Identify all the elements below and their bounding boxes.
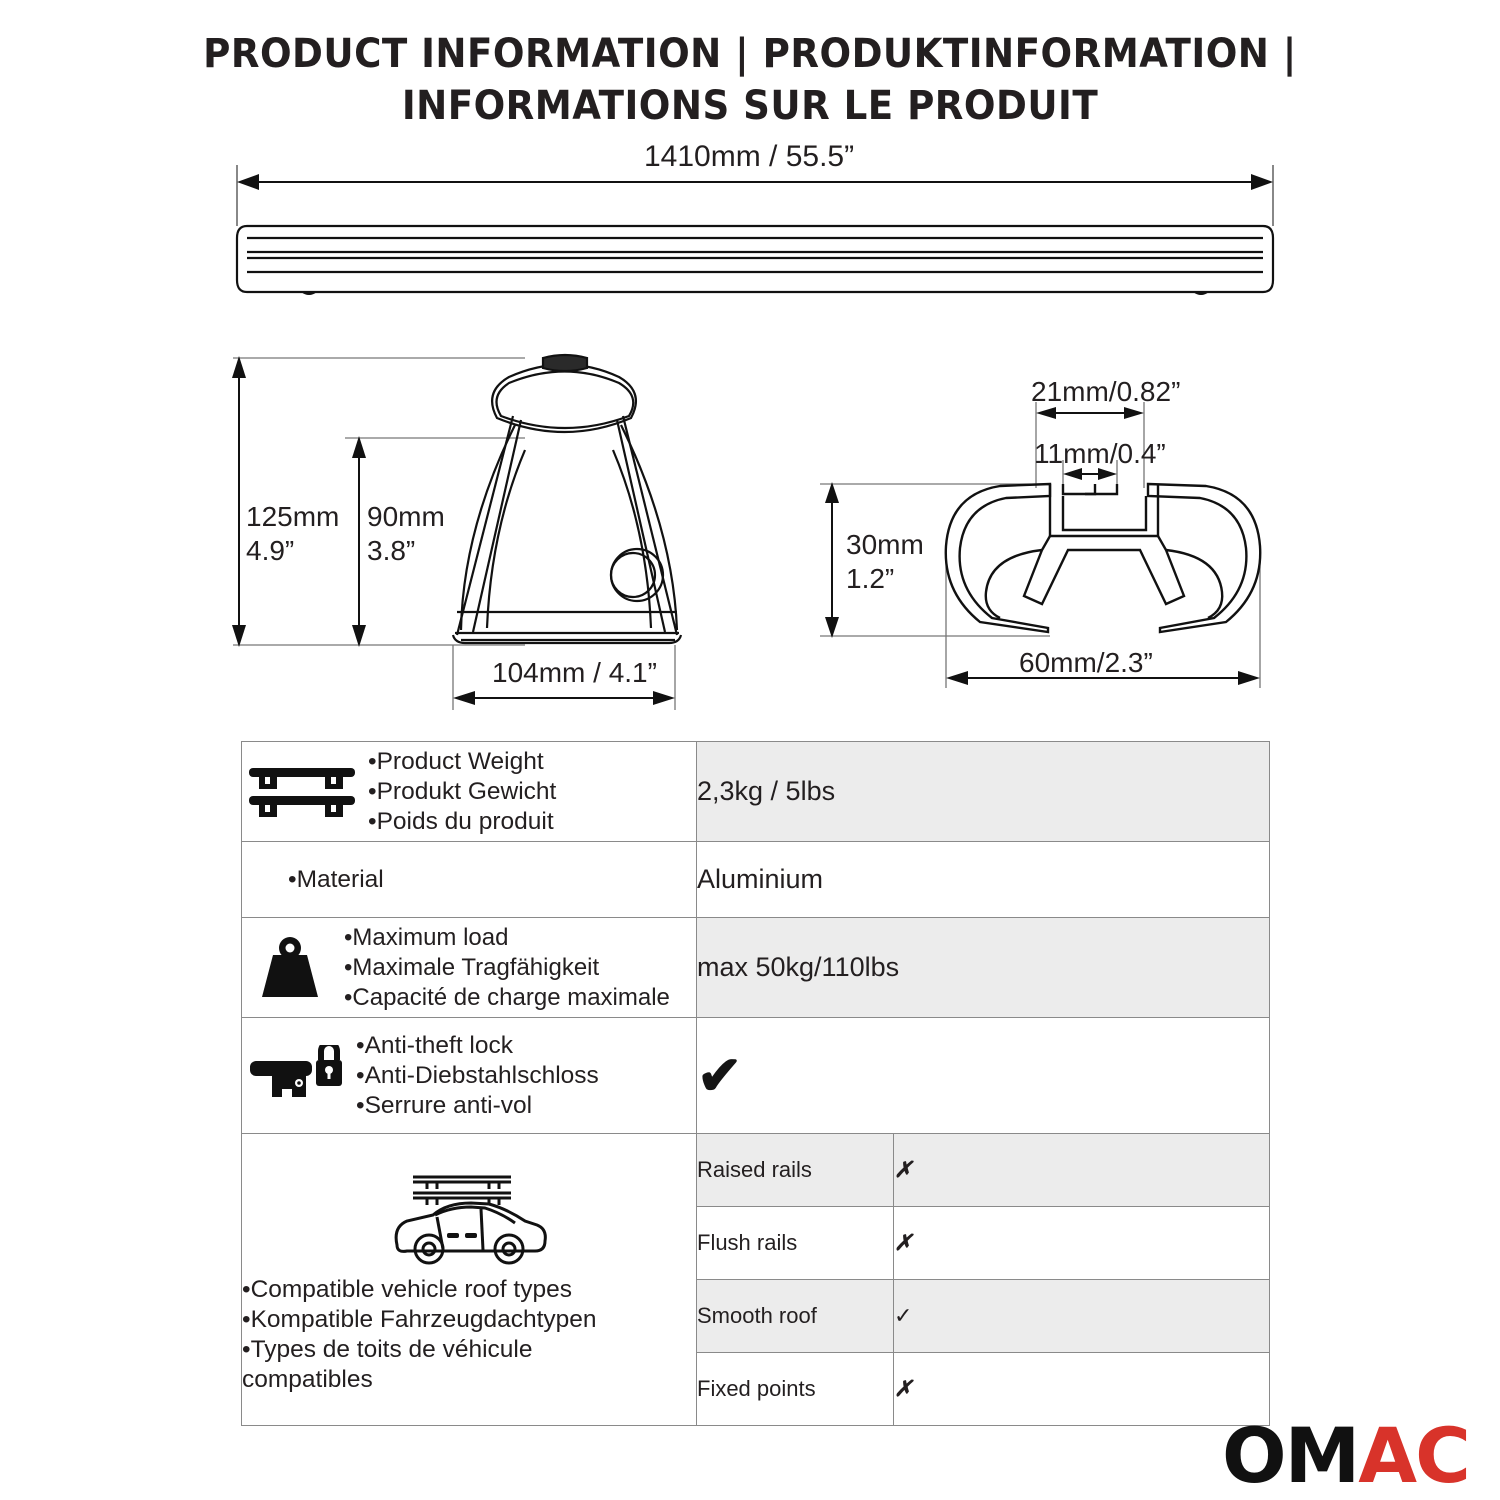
spec-label-line-en: •Maximum load bbox=[344, 924, 508, 951]
spec-label-text: •Material bbox=[288, 865, 696, 895]
table-row: •Maximum load •Maximale Tragfähigkeit •C… bbox=[242, 918, 1270, 1018]
title-line-2: INFORMATIONS SUR LE PRODUIT bbox=[53, 80, 1448, 132]
page-title: PRODUCT INFORMATION | PRODUKTINFORMATION… bbox=[0, 28, 1500, 132]
spec-label-line-fr: •Serrure anti-vol bbox=[356, 1092, 532, 1119]
spec-label-line-de: •Produkt Gewicht bbox=[368, 778, 556, 805]
checkmark-icon: ✔ bbox=[697, 1046, 742, 1106]
roof-type-row: Flush rails ✗ bbox=[697, 1207, 1269, 1280]
roof-type-name: Smooth roof bbox=[697, 1280, 894, 1353]
spec-label-text: •Maximum load •Maximale Tragfähigkeit •C… bbox=[344, 923, 696, 1013]
roof-type-mark-cross-icon: ✗ bbox=[894, 1134, 1270, 1207]
table-row: •Anti-theft lock •Anti-Diebstahlschloss … bbox=[242, 1018, 1270, 1134]
crossbar-top-view-drawing bbox=[225, 160, 1285, 310]
roof-type-mark-check-icon: ✓ bbox=[894, 1280, 1270, 1353]
spec-label-line-de: •Kompatible Fahrzeugdachtypen bbox=[242, 1306, 597, 1333]
spec-label-text-vehicle: •Compatible vehicle roof types •Kompatib… bbox=[242, 1275, 597, 1395]
weight-icon bbox=[242, 935, 338, 1001]
logo-text-red: AC bbox=[1358, 1411, 1469, 1500]
roof-type-row: Fixed points ✗ bbox=[697, 1353, 1269, 1426]
spec-label-text: •Anti-theft lock •Anti-Diebstahlschloss … bbox=[356, 1031, 696, 1121]
roof-type-mark-cross-icon: ✗ bbox=[894, 1207, 1270, 1280]
foot-total-height-label: 125mm 4.9” bbox=[246, 500, 339, 568]
roof-types-table: Raised rails ✗ Flush rails ✗ Smooth roof… bbox=[697, 1134, 1269, 1425]
profile-height-label: 30mm 1.2” bbox=[846, 528, 924, 596]
logo-text-dark: OM bbox=[1222, 1411, 1358, 1500]
spec-label-line-fr: •Capacité de charge maximale bbox=[344, 984, 670, 1011]
spec-label-cell: •Material bbox=[242, 842, 697, 918]
roof-type-name: Fixed points bbox=[697, 1353, 894, 1426]
car-with-rack-icon bbox=[242, 1165, 696, 1269]
roof-type-row: Smooth roof ✓ bbox=[697, 1280, 1269, 1353]
spec-label-text: •Product Weight •Produkt Gewicht •Poids … bbox=[368, 747, 696, 837]
spec-label-line-en: •Anti-theft lock bbox=[356, 1032, 513, 1059]
title-line-1: PRODUCT INFORMATION | PRODUKTINFORMATION… bbox=[53, 28, 1448, 80]
table-row: •Product Weight •Produkt Gewicht •Poids … bbox=[242, 742, 1270, 842]
spec-label-line-fr: •Poids du produit bbox=[368, 808, 554, 835]
bar-length-label: 1410mm / 55.5” bbox=[644, 140, 854, 174]
spec-label-line-de: •Anti-Diebstahlschloss bbox=[356, 1062, 599, 1089]
profile-slot-outer-label: 21mm/0.82” bbox=[1031, 375, 1180, 409]
foot-width-label: 104mm / 4.1” bbox=[492, 656, 657, 690]
spec-value-max-load: max 50kg/110lbs bbox=[697, 918, 1270, 1018]
roof-types-cell: Raised rails ✗ Flush rails ✗ Smooth roof… bbox=[697, 1134, 1270, 1426]
roof-type-name: Raised rails bbox=[697, 1134, 894, 1207]
spec-value-anti-theft: ✔ bbox=[697, 1018, 1270, 1134]
roof-type-name: Flush rails bbox=[697, 1207, 894, 1280]
profile-width-label: 60mm/2.3” bbox=[1019, 646, 1153, 680]
spec-label-line-fr: •Types de toits de véhicule bbox=[242, 1336, 533, 1363]
spec-label-line-en: •Compatible vehicle roof types bbox=[242, 1276, 572, 1303]
spec-label-line-en: •Product Weight bbox=[368, 748, 544, 775]
table-row: •Material Aluminium bbox=[242, 842, 1270, 918]
spec-label-cell: •Product Weight •Produkt Gewicht •Poids … bbox=[242, 742, 697, 842]
spec-label-line-de: •Maximale Tragfähigkeit bbox=[344, 954, 599, 981]
omac-logo: OMAC bbox=[1222, 1418, 1469, 1494]
spec-label-cell-vehicle: •Compatible vehicle roof types •Kompatib… bbox=[242, 1134, 697, 1426]
spec-label-cell: •Anti-theft lock •Anti-Diebstahlschloss … bbox=[242, 1018, 697, 1134]
crossbars-icon bbox=[242, 762, 362, 822]
lock-icon bbox=[242, 1045, 350, 1107]
roof-type-mark-cross-icon: ✗ bbox=[894, 1353, 1270, 1426]
spec-label-line-fr-cont: compatibles bbox=[242, 1366, 373, 1393]
product-spec-table: •Product Weight •Produkt Gewicht •Poids … bbox=[241, 741, 1270, 1426]
foot-inner-height-label: 90mm 3.8” bbox=[367, 500, 445, 568]
spec-label-cell: •Maximum load •Maximale Tragfähigkeit •C… bbox=[242, 918, 697, 1018]
spec-value-weight: 2,3kg / 5lbs bbox=[697, 742, 1270, 842]
profile-slot-inner-label: 11mm/0.4” bbox=[1034, 437, 1166, 471]
spec-value-material: Aluminium bbox=[697, 842, 1270, 918]
table-row: •Compatible vehicle roof types •Kompatib… bbox=[242, 1134, 1270, 1426]
roof-type-row: Raised rails ✗ bbox=[697, 1134, 1269, 1207]
